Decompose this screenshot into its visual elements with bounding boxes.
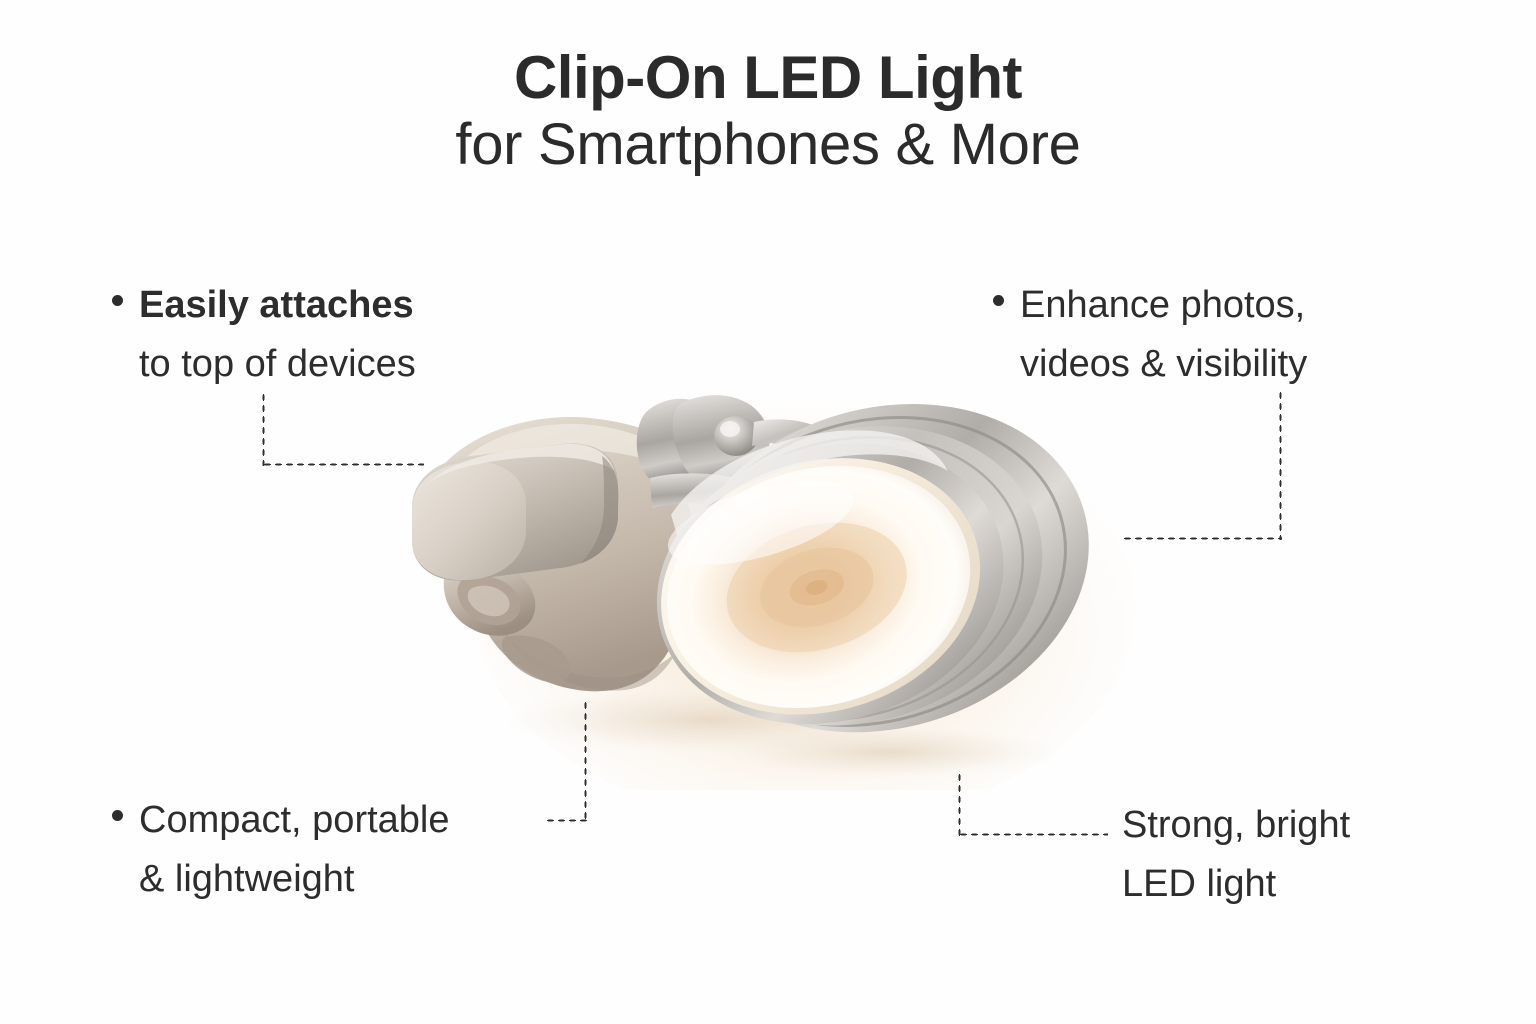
- bullet-icon: [112, 295, 123, 306]
- title-line-secondary: for Smartphones & More: [0, 111, 1536, 179]
- connector-segment-horizontal: [958, 833, 1108, 836]
- callout-strong-bright-led: Strong, bright LED light: [1122, 796, 1350, 914]
- clamp-pad-face: [412, 461, 526, 580]
- page-title: Clip-On LED Light for Smartphones & More: [0, 46, 1536, 179]
- bullet-icon: [993, 295, 1004, 306]
- clamp-pad-group: [412, 443, 618, 580]
- connector-segment-horizontal: [1122, 537, 1282, 540]
- hinge-pivot-button: [714, 416, 758, 456]
- connector-segment-vertical: [958, 772, 961, 836]
- callout-easily-attaches: Easily attaches to top of devices: [112, 276, 416, 394]
- connector-segment-vertical: [1279, 390, 1282, 540]
- connector-segment-vertical: [584, 700, 587, 822]
- product-image-clip-on-led-light: [350, 360, 1150, 790]
- callout-line-2: videos & visibility: [993, 335, 1307, 394]
- callout-line-1: Strong, bright: [1122, 796, 1350, 855]
- connector-segment-horizontal: [545, 819, 587, 822]
- hinge-pivot-button-highlight: [720, 421, 740, 437]
- callout-line-2: to top of devices: [112, 335, 416, 394]
- callout-enhance-photos: Enhance photos, videos & visibility: [993, 276, 1307, 394]
- product-drop-shadow-right: [700, 722, 1080, 782]
- infographic-canvas: Clip-On LED Light for Smartphones & More: [0, 0, 1536, 1024]
- connector-segment-horizontal: [262, 463, 424, 466]
- callout-line-1: Enhance photos,: [993, 276, 1307, 335]
- connector-segment-vertical: [262, 392, 265, 466]
- callout-line-1: Easily attaches: [112, 276, 416, 335]
- callout-line-2: & lightweight: [112, 850, 450, 909]
- callout-line-2: LED light: [1122, 855, 1350, 914]
- title-line-primary: Clip-On LED Light: [0, 46, 1536, 111]
- callout-line-1: Compact, portable: [112, 791, 450, 850]
- callout-compact-portable: Compact, portable & lightweight: [112, 791, 450, 909]
- bullet-icon: [112, 810, 123, 821]
